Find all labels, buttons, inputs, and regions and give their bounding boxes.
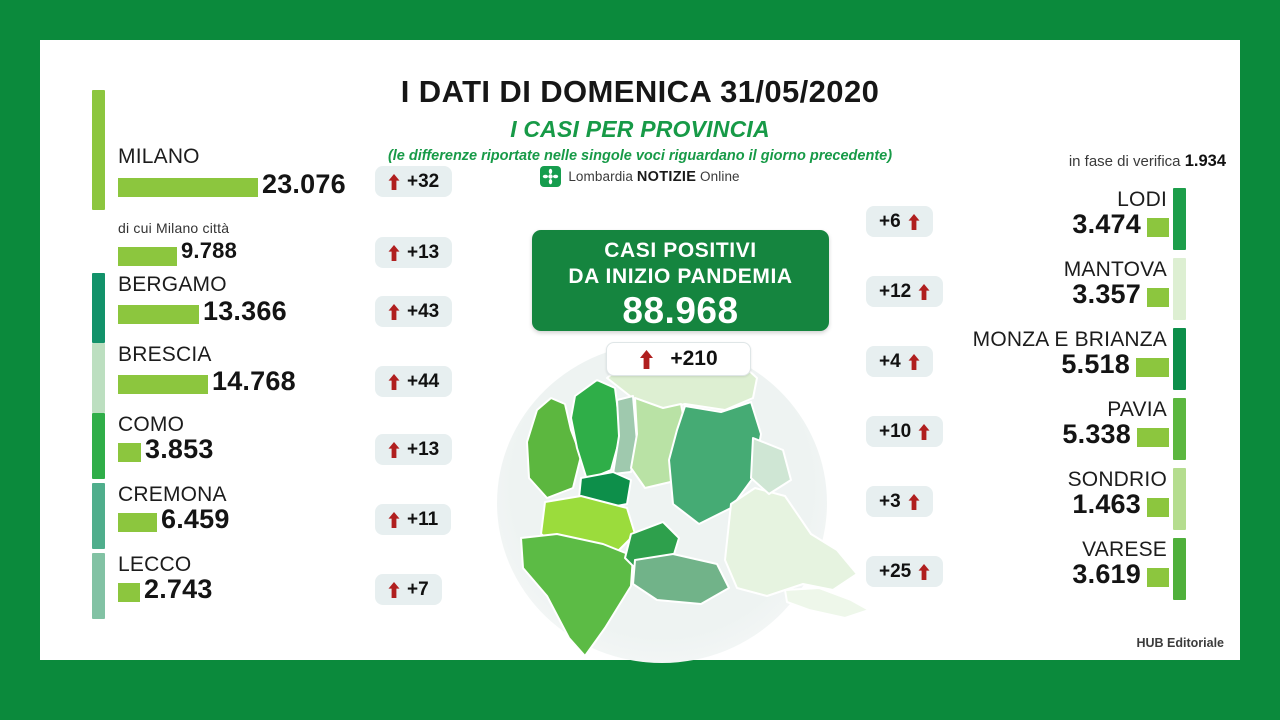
arrow-up-icon [908,494,920,510]
province-bar [1147,498,1169,517]
arrow-up-icon [908,354,920,370]
province-delta-badge: +43 [375,296,452,327]
logo-suffix: Online [700,169,740,184]
province-delta-badge: +44 [375,366,452,397]
province-swatch [1173,328,1186,390]
arrow-up-icon [918,424,930,440]
province-delta-value: +7 [407,579,429,601]
logo-bold: NOTIZIE [637,169,696,185]
arrow-up-icon [388,442,400,458]
province-delta-value: +43 [407,301,439,323]
province-bar [118,305,199,324]
province-bar [1136,358,1169,377]
province-delta-badge: +4 [866,346,933,377]
province-delta-value: +4 [879,351,901,373]
province-delta-badge: +7 [375,574,442,605]
province-delta-value: +32 [407,171,439,193]
province-delta-value: +44 [407,371,439,393]
province-bar [1147,218,1169,237]
page-subtitle: I CASI PER PROVINCIA [40,116,1240,143]
total-label-line1: CASI POSITIVI [532,238,829,264]
content-card: I DATI DI DOMENICA 31/05/2020 I CASI PER… [40,40,1240,660]
province-value: 14.768 [212,366,296,397]
province-bar [118,247,177,266]
province-name: BRESCIA [118,343,212,367]
province-swatch [1173,468,1186,530]
lombardy-rose-icon [540,166,561,187]
arrow-up-icon [388,245,400,261]
header: I DATI DI DOMENICA 31/05/2020 I CASI PER… [40,40,1240,164]
province-value: 23.076 [262,169,346,200]
province-bar [118,443,141,462]
province-swatch [1173,398,1186,460]
total-delta-badge: +210 [606,342,751,376]
arrow-up-icon [388,174,400,190]
arrow-up-icon [388,374,400,390]
province-delta-value: +12 [879,281,911,303]
arrow-up-icon [388,582,400,598]
province-delta-badge: +13 [375,237,452,268]
province-name: BERGAMO [118,273,227,297]
logo-text: Lombardia NOTIZIE Online [568,169,739,185]
total-label-line2: DA INIZIO PANDEMIA [532,264,829,290]
province-value: 3.619 [1072,559,1141,590]
province-delta-badge: +10 [866,416,943,447]
province-swatch [92,413,105,479]
province-bar [1147,568,1169,587]
header-note: (le differenze riportate nelle singole v… [40,148,1240,164]
province-name: MILANO [118,145,200,169]
total-delta-value: +210 [670,347,717,371]
map-regions-icon [485,338,885,678]
province-value: 3.853 [145,434,214,465]
province-delta-value: +3 [879,491,901,513]
in-verifica: in fase di verifica 1.934 [1069,152,1226,171]
province-delta-badge: +32 [375,166,452,197]
province-swatch [1173,258,1186,320]
page-title: I DATI DI DOMENICA 31/05/2020 [40,74,1240,110]
arrow-up-icon [639,350,654,369]
province-swatch [1173,188,1186,250]
province-delta-value: +10 [879,421,911,443]
province-delta-badge: +13 [375,434,452,465]
province-delta-value: +6 [879,211,901,233]
province-value: 5.338 [1062,419,1131,450]
province-bar [118,583,140,602]
lombardy-map [485,338,885,678]
province-bar [1137,428,1169,447]
infographic-frame: I DATI DI DOMENICA 31/05/2020 I CASI PER… [0,0,1280,720]
province-bar [1147,288,1169,307]
province-swatch [92,483,105,549]
province-value: 5.518 [1061,349,1130,380]
province-swatch [92,343,105,413]
province-value: 1.463 [1072,489,1141,520]
province-delta-badge: +6 [866,206,933,237]
province-value: 2.743 [144,574,213,605]
logo-brand: Lombardia [568,169,633,184]
in-verifica-label: in fase di verifica [1069,153,1181,170]
province-value: 13.366 [203,296,287,327]
footer-credit: HUB Editoriale [1136,636,1224,650]
province-delta-value: +13 [407,439,439,461]
total-cases-value: 88.968 [532,290,829,331]
province-value: 3.357 [1072,279,1141,310]
arrow-up-icon [908,214,920,230]
arrow-up-icon [918,564,930,580]
province-delta-badge: +11 [375,504,451,535]
province-delta-value: +25 [879,561,911,583]
province-swatch [92,553,105,619]
province-swatch [92,90,105,210]
province-swatch [92,273,105,343]
province-delta-value: +13 [407,242,439,264]
arrow-up-icon [388,512,400,528]
province-name: di cui Milano città [118,220,229,236]
province-bar [118,513,157,532]
province-delta-badge: +25 [866,556,943,587]
province-bar [118,375,208,394]
province-bar [118,178,258,197]
arrow-up-icon [388,304,400,320]
in-verifica-value: 1.934 [1185,152,1226,170]
province-value: 9.788 [181,238,237,264]
province-delta-value: +11 [407,509,438,531]
province-swatch [1173,538,1186,600]
arrow-up-icon [918,284,930,300]
province-delta-badge: +3 [866,486,933,517]
total-cases-box: CASI POSITIVI DA INIZIO PANDEMIA 88.968 [532,230,829,331]
province-value: 3.474 [1072,209,1141,240]
province-delta-badge: +12 [866,276,943,307]
province-value: 6.459 [161,504,230,535]
